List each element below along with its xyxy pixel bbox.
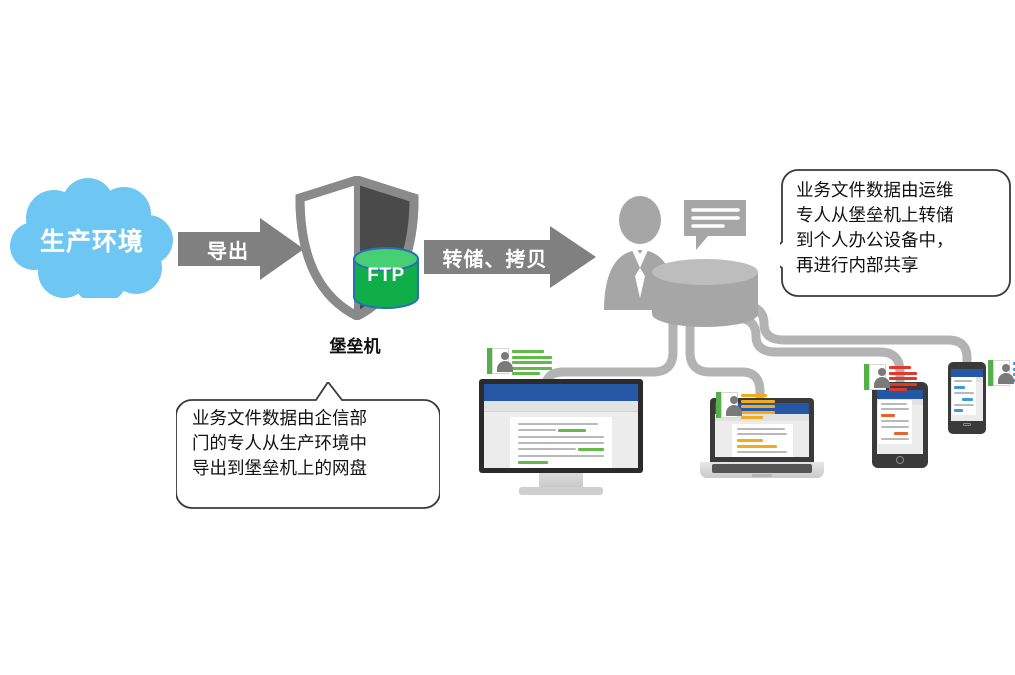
smartphone <box>948 362 986 434</box>
bastion-host-label: 堡垒机 <box>290 332 420 357</box>
window-titlebar <box>951 369 983 377</box>
contact-card-phone <box>988 360 1015 386</box>
monitor-screen <box>484 384 638 468</box>
arrow-export-label: 导出 <box>178 218 304 280</box>
avatar <box>487 348 509 374</box>
card-lines <box>741 392 775 419</box>
ftp-label: FTP <box>352 265 420 287</box>
avatar <box>864 364 886 390</box>
callout-devices: 业务文件数据由运维 专人从堡垒机上转储 到个人办公设备中， 再进行内部共享 <box>780 168 1012 298</box>
arrow-transfer-copy: 转储、拷贝 <box>424 226 596 288</box>
desktop-monitor <box>479 379 647 503</box>
window-titlebar <box>877 390 923 399</box>
contact-card-laptop <box>716 392 775 419</box>
arrow-transfer-copy-label: 转储、拷贝 <box>424 226 596 288</box>
connector-pipes <box>0 0 1015 675</box>
arrow-export: 导出 <box>178 218 304 280</box>
avatar <box>988 360 1010 386</box>
window-toolbar <box>484 401 638 412</box>
laptop-trackpad <box>752 474 772 477</box>
callout-devices-text: 业务文件数据由运维 专人从堡垒机上转储 到个人办公设备中， 再进行内部共享 <box>780 168 1012 287</box>
laptop-keyboard <box>712 464 812 473</box>
callout-bastion-text: 业务文件数据由企信部 门的专人从生产环境中 导出到堡垒机上的网盘 <box>176 396 440 491</box>
contact-card-tablet <box>864 364 917 391</box>
card-lines <box>512 348 552 375</box>
cloud-label: 生产环境 <box>8 222 176 258</box>
contact-card-monitor <box>487 348 552 375</box>
diagram-canvas: 生产环境 导出 FTP 堡垒机 转储、拷贝 <box>0 0 1015 675</box>
window-titlebar <box>484 384 638 401</box>
tablet <box>872 382 928 468</box>
avatar <box>716 392 738 418</box>
production-environment-cloud: 生产环境 <box>8 178 176 298</box>
monitor-base <box>519 487 603 495</box>
document-page <box>732 424 793 457</box>
document-page <box>878 400 912 444</box>
document-page <box>952 377 976 415</box>
card-lines <box>889 364 917 391</box>
document-page <box>510 417 612 468</box>
phone-home-button <box>963 423 971 426</box>
callout-bastion: 业务文件数据由企信部 门的专人从生产环境中 导出到堡垒机上的网盘 <box>176 382 440 510</box>
shared-storage-cylinder <box>650 258 760 328</box>
tablet-home-button <box>896 456 904 464</box>
